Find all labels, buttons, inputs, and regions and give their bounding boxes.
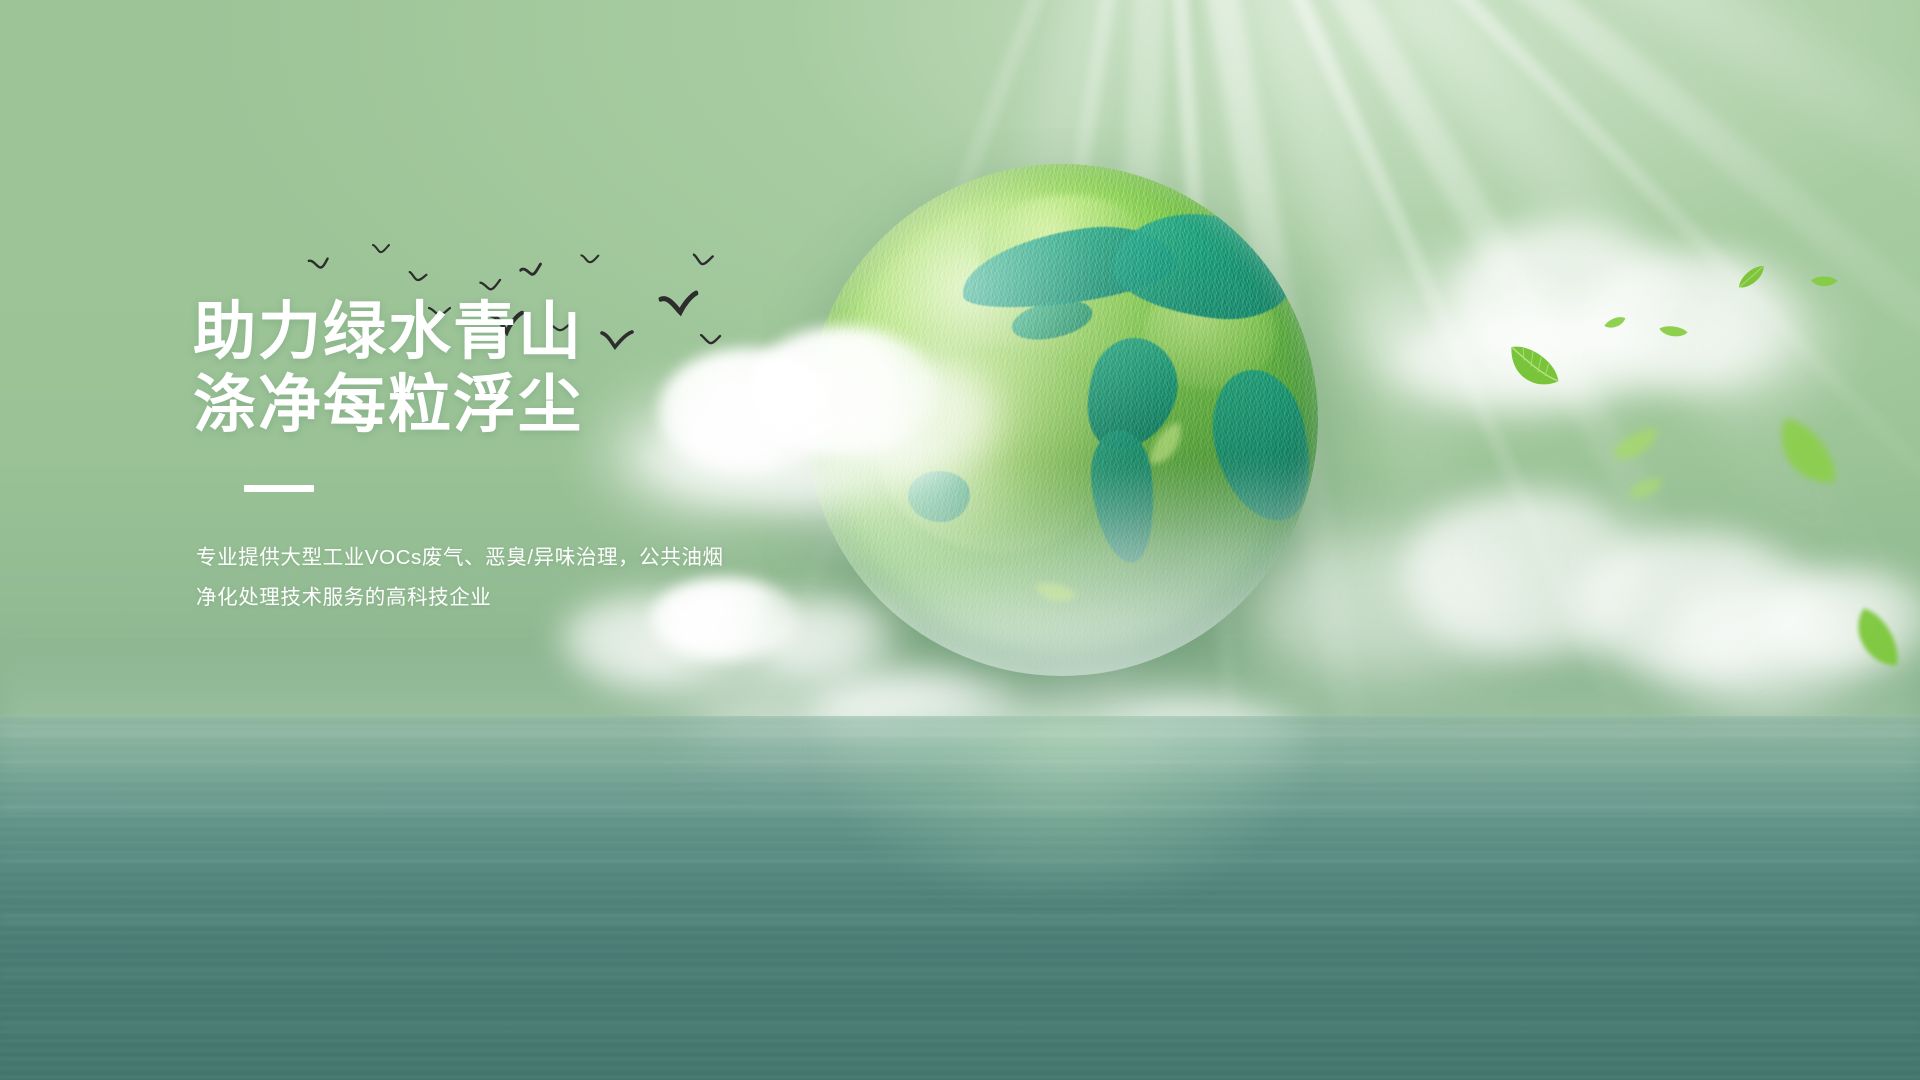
hero-banner: 助力绿水青山 涤净每粒浮尘 专业提供大型工业VOCs废气、恶臭/异味治理，公共油… xyxy=(0,0,1920,1080)
banner-copy: 助力绿水青山 涤净每粒浮尘 专业提供大型工业VOCs废气、恶臭/异味治理，公共油… xyxy=(193,296,953,618)
bird-icon xyxy=(479,278,505,295)
bird-icon xyxy=(407,271,430,286)
banner-description: 专业提供大型工业VOCs废气、恶臭/异味治理，公共油烟净化处理技术服务的高科技企… xyxy=(196,538,741,618)
headline-line-2: 涤净每粒浮尘 xyxy=(193,369,953,442)
title-divider xyxy=(244,485,314,492)
bird-icon xyxy=(308,257,335,273)
headline-line-1: 助力绿水青山 xyxy=(193,296,953,369)
bird-icon xyxy=(691,253,715,270)
bird-icon xyxy=(519,262,546,283)
water-surface xyxy=(0,716,1920,1080)
bird-icon xyxy=(580,253,601,266)
bird-icon xyxy=(372,244,390,255)
